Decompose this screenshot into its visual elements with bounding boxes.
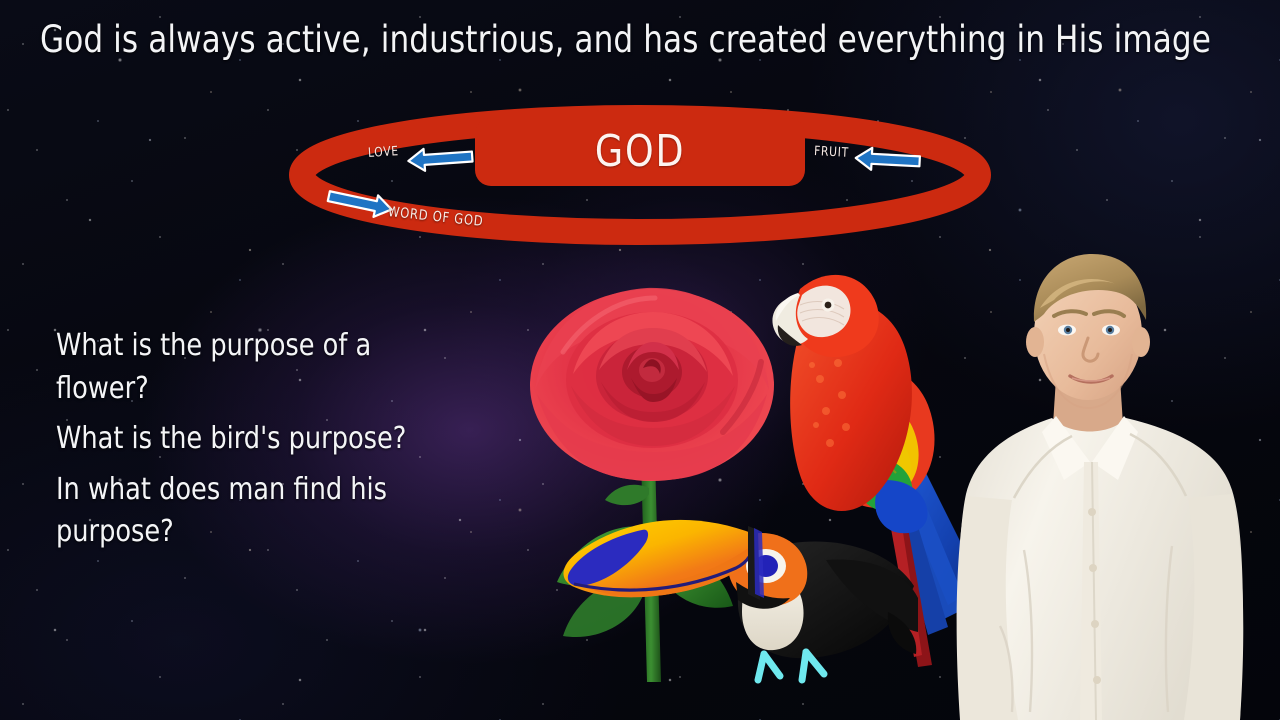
god-center-box: GOD bbox=[475, 118, 805, 186]
god-cycle-diagram: GOD LOVE FRUIT WORD OF GOD bbox=[290, 100, 990, 245]
slide-canvas: God is always active, industrious, and h… bbox=[0, 0, 1280, 720]
question-flower: What is the purpose of a flower? bbox=[56, 325, 455, 410]
toucan-image bbox=[558, 482, 918, 687]
diagram-label-love: LOVE bbox=[368, 144, 400, 161]
slide-title: God is always active, industrious, and h… bbox=[40, 18, 1171, 62]
macaw-head bbox=[772, 275, 878, 357]
question-list: What is the purpose of a flower? What is… bbox=[56, 325, 455, 562]
god-label: GOD bbox=[595, 130, 685, 174]
presenter-head bbox=[1026, 254, 1150, 408]
rose-bloom bbox=[530, 288, 774, 481]
presenter-person bbox=[940, 250, 1280, 720]
diagram-label-fruit: FRUIT bbox=[814, 144, 850, 161]
presenter-shirt bbox=[957, 416, 1244, 720]
question-bird: What is the bird's purpose? bbox=[56, 418, 455, 461]
question-man: In what does man find his purpose? bbox=[56, 469, 455, 554]
arrow-love bbox=[408, 146, 473, 172]
toucan-beak bbox=[563, 520, 764, 600]
